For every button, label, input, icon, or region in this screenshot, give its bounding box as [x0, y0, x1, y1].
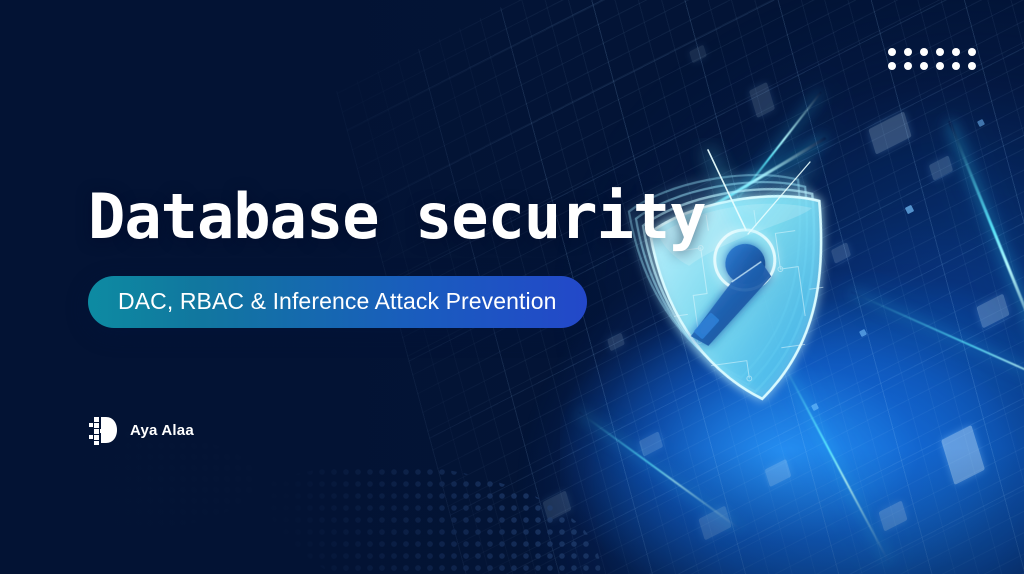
decor-dot	[968, 48, 976, 56]
decor-dot	[888, 62, 896, 70]
decor-dot	[952, 62, 960, 70]
brand-name: Aya Alaa	[130, 422, 194, 439]
decor-dot	[904, 48, 912, 56]
decor-dot	[888, 48, 896, 56]
slide-text-block: Database security DAC, RBAC & Inference …	[88, 186, 706, 328]
presentation-slide: Database security DAC, RBAC & Inference …	[0, 0, 1024, 574]
decor-dot	[904, 62, 912, 70]
brand-block: Aya Alaa	[88, 414, 194, 446]
decor-dot	[968, 62, 976, 70]
decor-dot	[952, 48, 960, 56]
decor-dot	[936, 48, 944, 56]
pixel-database-d-icon	[88, 414, 118, 446]
decor-dot	[936, 62, 944, 70]
decor-dot	[920, 48, 928, 56]
subtitle-pill: DAC, RBAC & Inference Attack Prevention	[88, 276, 587, 328]
dot-grid-icon	[888, 48, 976, 70]
page-title: Database security	[88, 186, 706, 248]
decor-dot	[920, 62, 928, 70]
